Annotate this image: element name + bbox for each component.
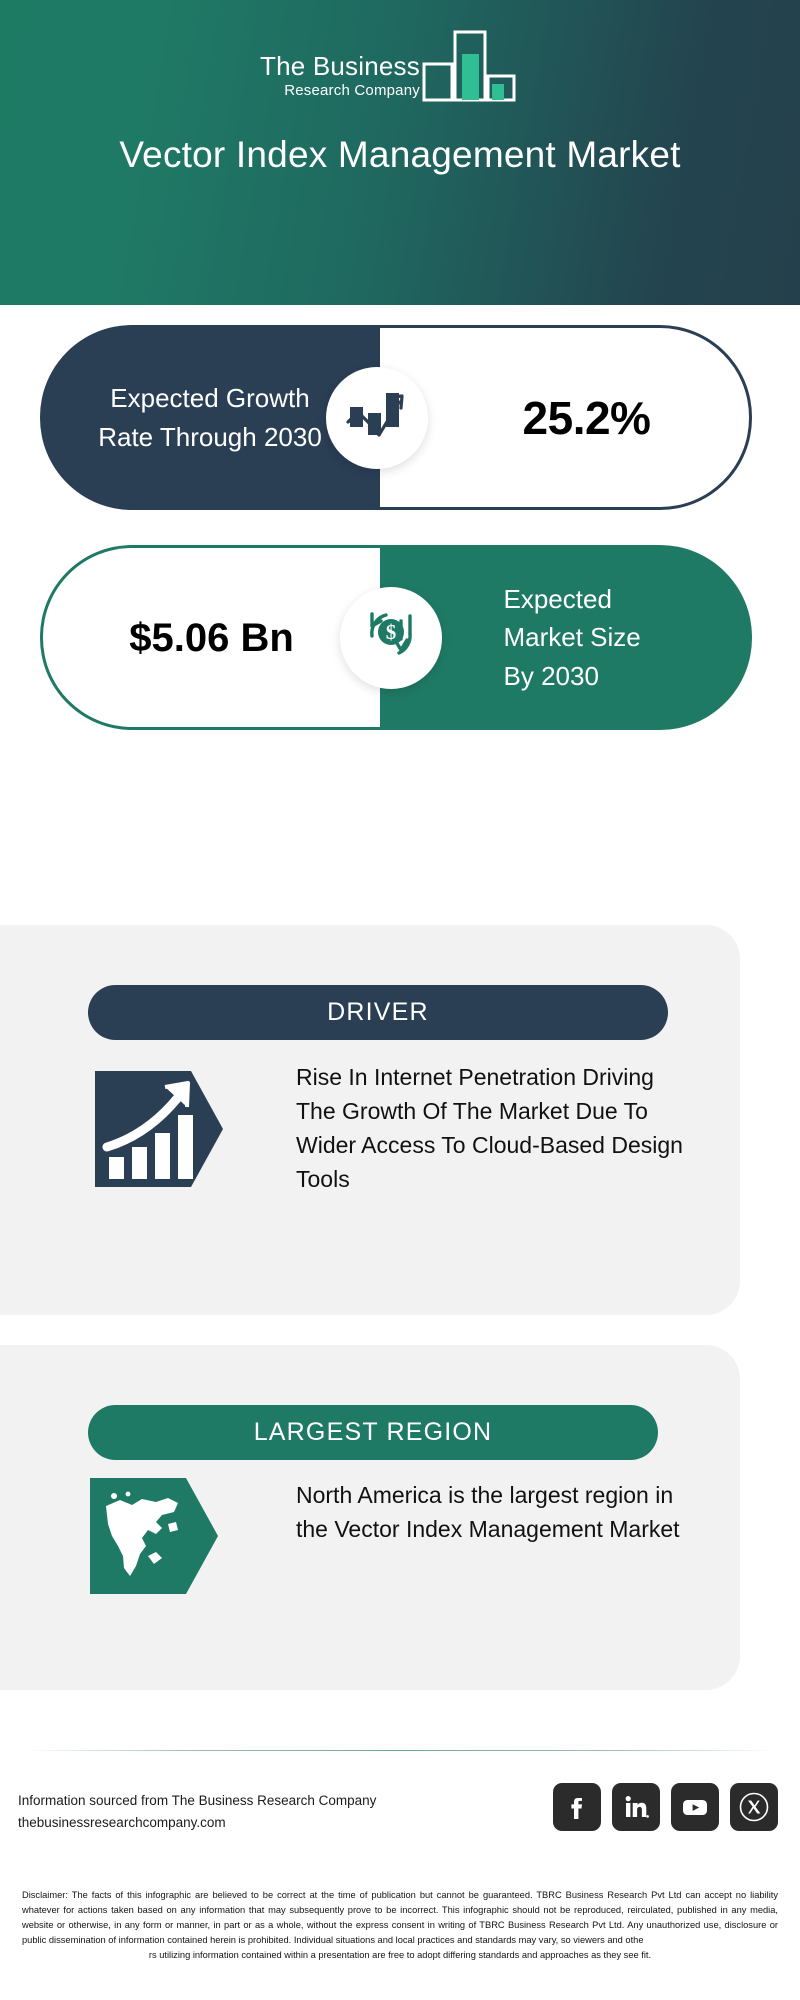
dollar-circular-arrows-icon: $ bbox=[359, 606, 423, 670]
north-america-map-icon bbox=[90, 1472, 218, 1600]
youtube-icon bbox=[679, 1791, 711, 1823]
rising-bar-chart-arrow-icon bbox=[95, 1065, 223, 1193]
social-links bbox=[553, 1783, 778, 1831]
header-banner: The Business Research Company Vector Ind… bbox=[0, 0, 800, 305]
source-website-link[interactable]: thebusinessresearchcompany.com bbox=[18, 1812, 376, 1834]
market-size-value: $5.06 Bn bbox=[117, 611, 307, 665]
growth-rate-card: Expected Growth Rate Through 2030 25.2% bbox=[40, 325, 752, 510]
largest-region-heading-pill: LARGEST REGION bbox=[88, 1405, 658, 1460]
logo-primary-text: The Business bbox=[260, 53, 420, 80]
x-twitter-icon bbox=[738, 1791, 770, 1823]
disclaimer-main-text: Disclaimer: The facts of this infographi… bbox=[22, 1890, 778, 1945]
market-size-value-panel: $5.06 Bn bbox=[40, 545, 380, 730]
facebook-button[interactable] bbox=[553, 1783, 601, 1831]
company-logo: The Business Research Company bbox=[0, 24, 800, 102]
market-size-card: $5.06 Bn Expected Market Size By 2030 $ bbox=[40, 545, 752, 730]
footer-divider bbox=[26, 1750, 774, 1751]
linkedin-button[interactable] bbox=[612, 1783, 660, 1831]
source-line-1: Information sourced from The Business Re… bbox=[18, 1790, 376, 1812]
disclaimer-last-line: rs utilizing information contained withi… bbox=[22, 1948, 778, 1963]
source-attribution: Information sourced from The Business Re… bbox=[18, 1790, 376, 1835]
page-title: Vector Index Management Market bbox=[60, 130, 740, 179]
driver-heading-pill: DRIVER bbox=[88, 985, 668, 1040]
infographic-page: The Business Research Company Vector Ind… bbox=[0, 0, 800, 2000]
logo-text-block: The Business Research Company bbox=[260, 53, 420, 102]
growth-bar-chart-arrow-icon bbox=[346, 389, 408, 447]
youtube-button[interactable] bbox=[671, 1783, 719, 1831]
growth-rate-icon-badge bbox=[326, 367, 428, 469]
logo-secondary-text: Research Company bbox=[260, 81, 420, 101]
facebook-icon bbox=[562, 1792, 592, 1822]
disclaimer-text: Disclaimer: The facts of this infographi… bbox=[22, 1888, 778, 1963]
market-size-icon-badge: $ bbox=[340, 587, 442, 689]
growth-rate-value-panel: 25.2% bbox=[380, 325, 752, 510]
largest-region-heading-label: LARGEST REGION bbox=[254, 1418, 493, 1447]
bar-chart-logo-mark-icon bbox=[422, 24, 540, 102]
growth-rate-value: 25.2% bbox=[479, 391, 651, 445]
growth-rate-label: Expected Growth Rate Through 2030 bbox=[93, 379, 328, 456]
x-twitter-button[interactable] bbox=[730, 1783, 778, 1831]
linkedin-icon bbox=[621, 1792, 651, 1822]
market-size-label: Expected Market Size By 2030 bbox=[459, 580, 674, 695]
driver-body-text: Rise In Internet Penetration Driving The… bbox=[296, 1060, 696, 1196]
driver-heading-label: DRIVER bbox=[327, 998, 429, 1027]
largest-region-body-text: North America is the largest region in t… bbox=[296, 1478, 696, 1546]
